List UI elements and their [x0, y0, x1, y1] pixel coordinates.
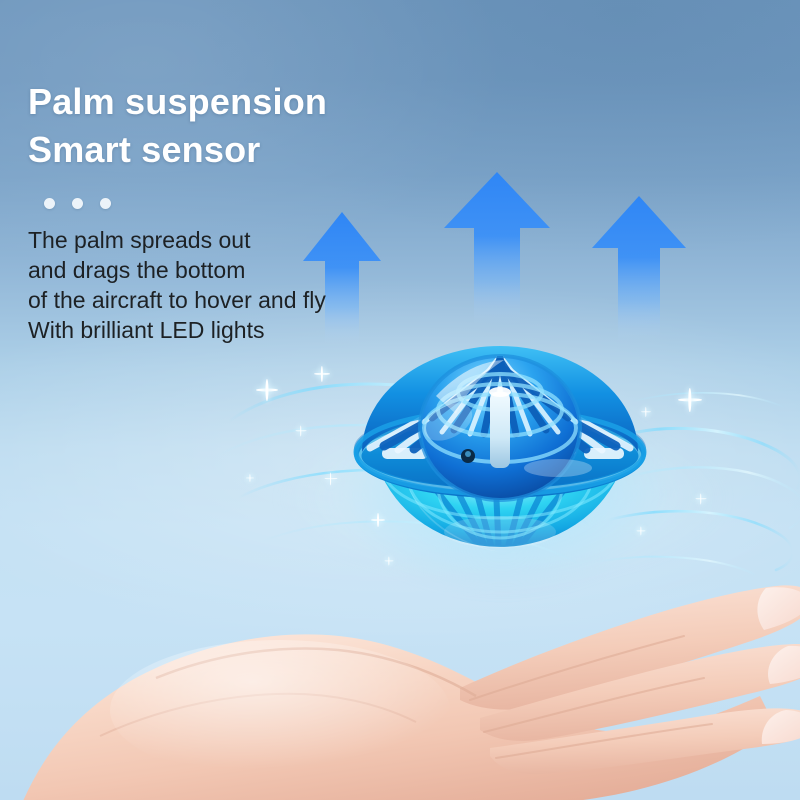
- palm-highlight: [110, 640, 450, 780]
- sparkle-1: [256, 379, 278, 401]
- description-line-3: of the aircraft to hover and fly: [28, 286, 326, 316]
- divider-dot-2: [72, 198, 83, 209]
- index-finger: [460, 585, 800, 709]
- divider-dot-1: [44, 198, 55, 209]
- description-text: The palm spreads out and drags the botto…: [28, 226, 326, 346]
- headline-line-2: Smart sensor: [28, 126, 327, 174]
- dot-divider: [44, 198, 111, 209]
- sparkle-4: [324, 472, 337, 485]
- headline-line-1: Palm suspension: [28, 78, 327, 126]
- index-fingernail: [757, 587, 800, 630]
- description-line-2: and drags the bottom: [28, 256, 326, 286]
- open-palm-hand: [60, 560, 800, 800]
- sparkle-5: [246, 474, 254, 482]
- description-line-4: With brilliant LED lights: [28, 316, 326, 346]
- description-line-1: The palm spreads out: [28, 226, 326, 256]
- product-marketing-banner: Palm suspension Smart sensor The palm sp…: [0, 0, 800, 800]
- palm-crease-top: [156, 648, 476, 696]
- sparkle-3: [295, 425, 306, 436]
- palm-crease-mid: [100, 694, 416, 736]
- divider-dot-3: [100, 198, 111, 209]
- sparkle-8: [678, 388, 702, 412]
- ring-fingernail: [762, 710, 800, 744]
- sparkle-10: [695, 493, 706, 504]
- middle-fingernail: [768, 646, 800, 684]
- ring-finger: [490, 708, 800, 774]
- arrow-center-icon: [444, 172, 550, 324]
- sparkle-2: [314, 366, 330, 382]
- arrow-right-icon: [592, 196, 686, 342]
- finger-creases: [470, 636, 712, 758]
- palm-body: [20, 634, 776, 800]
- flying-orb-product: [352, 336, 648, 594]
- headline: Palm suspension Smart sensor: [28, 78, 327, 173]
- middle-finger: [480, 644, 800, 741]
